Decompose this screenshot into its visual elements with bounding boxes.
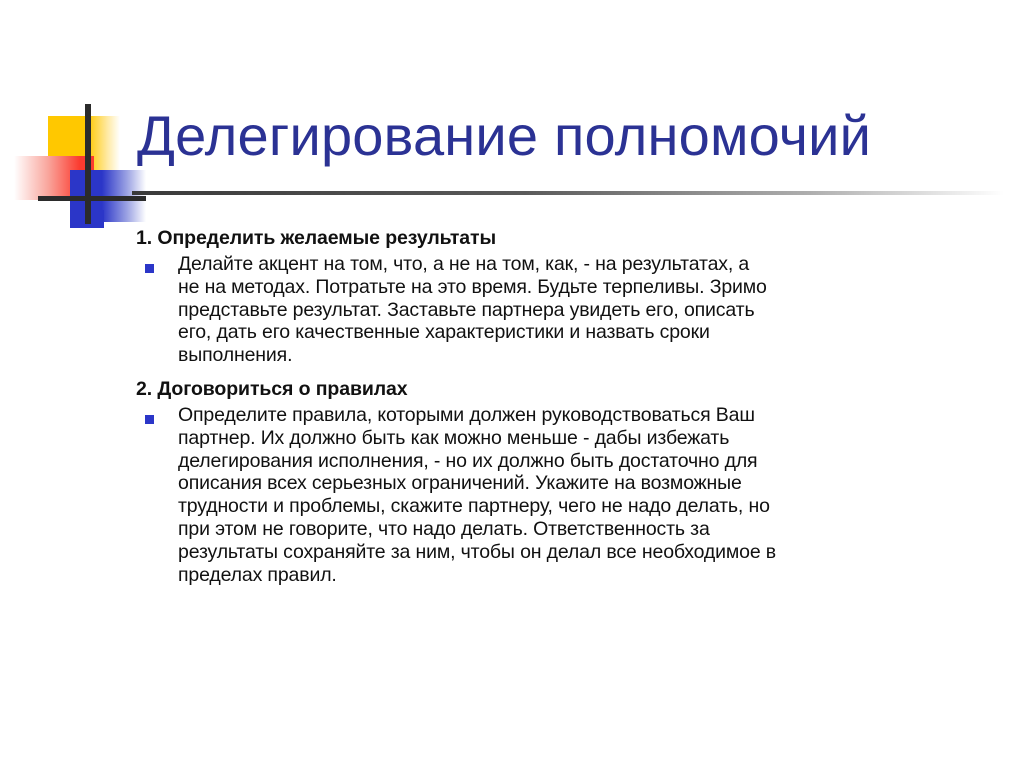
section-1-bullet-text: Делайте акцент на том, что, а не на том,…	[178, 253, 996, 367]
text-line: трудности и проблемы, скажите партнеру, …	[178, 495, 996, 518]
square-bullet-icon	[145, 415, 154, 424]
text-line: партнер. Их должно быть как можно меньше…	[178, 427, 996, 450]
text-line: Делайте акцент на том, что, а не на том,…	[178, 253, 996, 276]
text-line: пределах правил.	[178, 564, 996, 587]
text-line: представьте результат. Заставьте партнер…	[178, 299, 996, 322]
section-1-heading: 1. Определить желаемые результаты	[136, 225, 996, 251]
section-1: 1. Определить желаемые результаты Делайт…	[136, 225, 996, 367]
presentation-slide: Делегирование полномочий 1. Определить ж…	[0, 0, 1024, 767]
text-line: выполнения.	[178, 344, 996, 367]
text-line: при этом не говорите, что надо делать. О…	[178, 518, 996, 541]
text-line: Определите правила, которыми должен руко…	[178, 404, 996, 427]
list-item: Определите правила, которыми должен руко…	[136, 404, 996, 586]
slide-decoration-logo	[14, 104, 146, 224]
text-line: результаты сохраняйте за ним, чтобы он д…	[178, 541, 996, 564]
title-divider	[132, 191, 1004, 195]
list-item: Делайте акцент на том, что, а не на том,…	[136, 253, 996, 367]
horizontal-bar-icon	[38, 196, 146, 201]
section-2-heading: 2. Договориться о правилах	[136, 376, 996, 402]
square-bullet-icon	[145, 264, 154, 273]
text-line: его, дать его качественные характеристик…	[178, 321, 996, 344]
text-line: делегирования исполнения, - но их должно…	[178, 450, 996, 473]
text-line: описания всех серьезных ограничений. Ука…	[178, 472, 996, 495]
slide-body: 1. Определить желаемые результаты Делайт…	[136, 225, 996, 586]
section-2: 2. Договориться о правилах Определите пр…	[136, 376, 996, 586]
spacer	[136, 367, 996, 376]
section-2-bullet-text: Определите правила, которыми должен руко…	[178, 404, 996, 586]
text-line: не на методах. Потратьте на это время. Б…	[178, 276, 996, 299]
page-title: Делегирование полномочий	[137, 103, 1017, 169]
vertical-bar-icon	[85, 104, 91, 224]
